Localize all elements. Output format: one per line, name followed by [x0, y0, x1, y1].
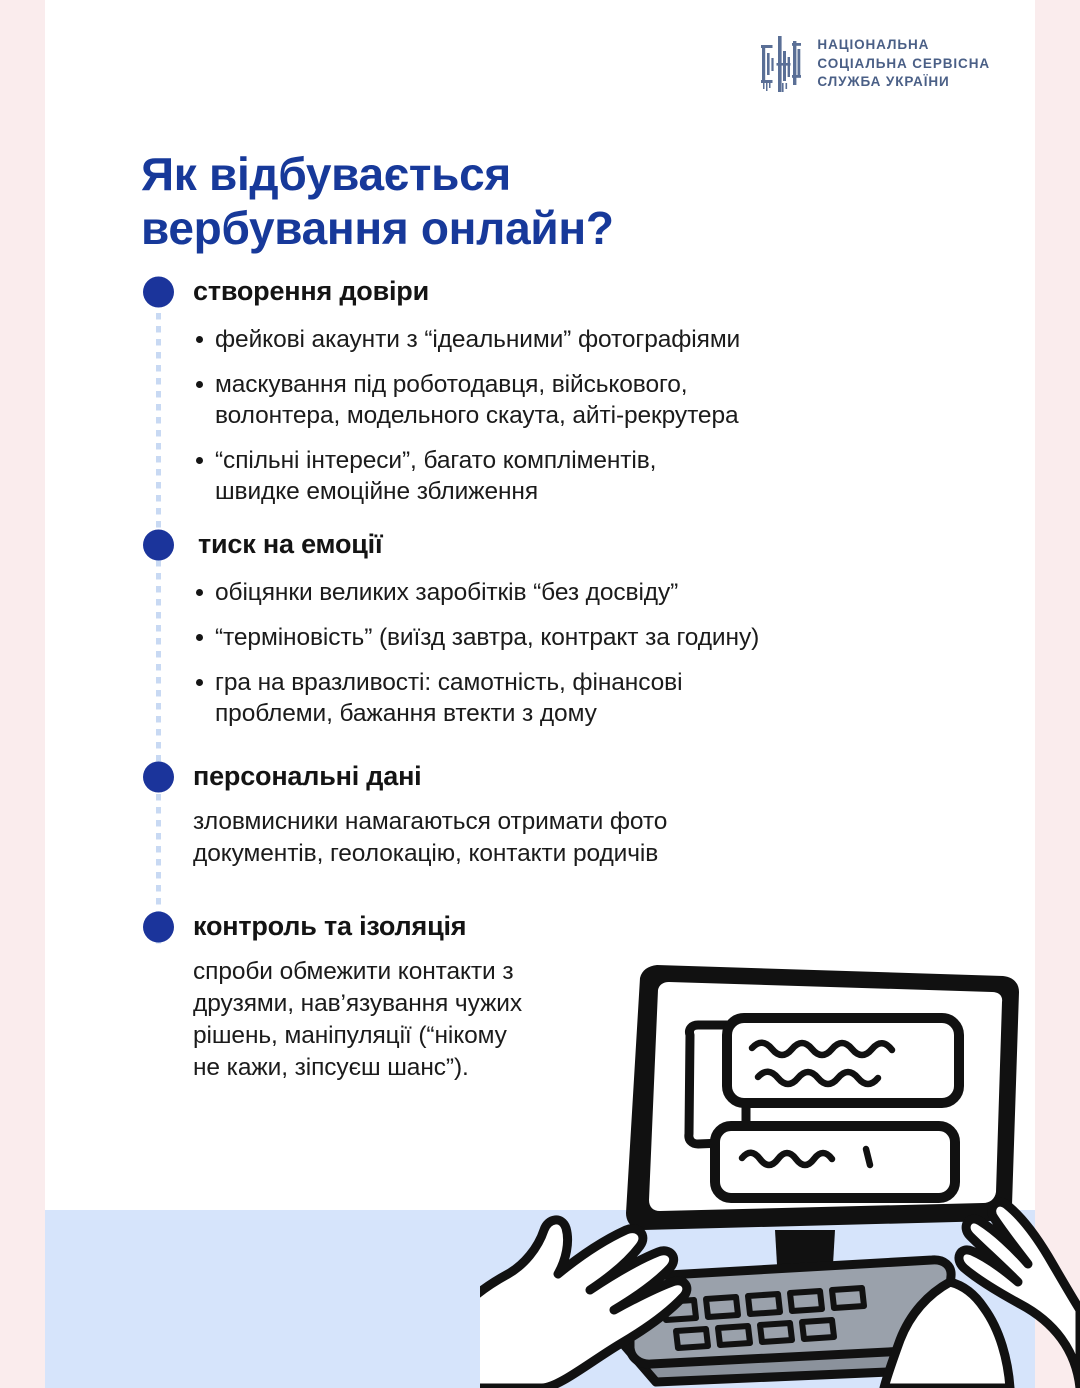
section-paragraph: спроби обмежити контакти з друзями, нав’… [193, 956, 623, 1083]
section-heading: контроль та ізоляція [193, 912, 466, 942]
bullet-line: маскування під роботодавця, військового, [215, 369, 1035, 400]
bullet-line: волонтера, модельного скаута, айті-рекру… [215, 400, 1035, 431]
bullet-line: фейкові акаунти з “ідеальними” фотографі… [215, 324, 1035, 355]
section-trust-building: створення довіри фейкові акаунти з “ідеа… [45, 272, 1035, 522]
left-pink-margin [0, 0, 45, 1388]
list-item: маскування під роботодавця, військового,… [45, 369, 1035, 431]
section-personal-data: персональні дані зловмисники намагаються… [45, 757, 1035, 870]
organization-logo: НАЦІОНАЛЬНА СОЦІАЛЬНА СЕРВІСНА СЛУЖБА УК… [759, 33, 990, 95]
paragraph-line: документів, геолокацію, контакти родичів [193, 838, 1035, 870]
section-bullet-dot-icon [143, 277, 174, 308]
list-item: фейкові акаунти з “ідеальними” фотографі… [45, 324, 1035, 355]
logo-line-1: НАЦІОНАЛЬНА [817, 37, 990, 53]
list-item: обіцянки великих заробітків “без досвіду… [45, 577, 1035, 608]
section-heading-row: створення довіри [45, 272, 1035, 312]
paragraph-line: друзями, нав’язування чужих [193, 988, 623, 1020]
infographic-poster: НАЦІОНАЛЬНА СОЦІАЛЬНА СЕРВІСНА СЛУЖБА УК… [0, 0, 1080, 1388]
right-pink-margin [1035, 0, 1080, 1388]
section-bullet-list: фейкові акаунти з “ідеальними” фотографі… [45, 324, 1035, 508]
section-bullet-dot-icon [143, 912, 174, 943]
list-item: “терміновість” (виїзд завтра, контракт з… [45, 622, 1035, 653]
section-heading: персональні дані [193, 762, 421, 792]
bullet-line: “спільні інтереси”, багато компліментів, [215, 445, 1035, 476]
section-heading-row: тиск на емоції [45, 525, 1035, 565]
section-heading: тиск на емоції [198, 530, 382, 560]
section-bullet-dot-icon [143, 762, 174, 793]
paragraph-line: зловмисники намагаються отримати фото [193, 806, 1035, 838]
section-heading: створення довіри [193, 277, 429, 307]
nssu-trident-logo-icon [759, 33, 805, 95]
page-content: НАЦІОНАЛЬНА СОЦІАЛЬНА СЕРВІСНА СЛУЖБА УК… [45, 0, 1035, 1388]
bullet-line: гра на вразливості: самотність, фінансов… [215, 667, 1035, 698]
logo-line-3: СЛУЖБА УКРАЇНИ [817, 74, 990, 90]
page-title: Як відбувається вербування онлайн? [141, 148, 841, 256]
section-paragraph: зловмисники намагаються отримати фото до… [193, 806, 1035, 870]
title-line-2: вербування онлайн? [141, 202, 841, 256]
logo-wordmark: НАЦІОНАЛЬНА СОЦІАЛЬНА СЕРВІСНА СЛУЖБА УК… [817, 37, 990, 90]
bullet-line: проблеми, бажання втекти з дому [215, 698, 1035, 729]
bullet-line: швидке емоційне зближення [215, 476, 1035, 507]
logo-line-2: СОЦІАЛЬНА СЕРВІСНА [817, 56, 990, 72]
section-bullet-list: обіцянки великих заробітків “без досвіду… [45, 577, 1035, 729]
bullet-line: обіцянки великих заробітків “без досвіду… [215, 577, 1035, 608]
paragraph-line: спроби обмежити контакти з [193, 956, 623, 988]
bullet-line: “терміновість” (виїзд завтра, контракт з… [215, 622, 1035, 653]
list-item: “спільні інтереси”, багато компліментів,… [45, 445, 1035, 507]
paragraph-line: рішень, маніпуляції (“нікому [193, 1020, 623, 1052]
section-heading-row: контроль та ізоляція [45, 907, 1035, 947]
title-line-1: Як відбувається [141, 148, 841, 202]
section-control-isolation: контроль та ізоляція спроби обмежити кон… [45, 907, 1035, 1083]
section-heading-row: персональні дані [45, 757, 1035, 797]
paragraph-line: не кажи, зіпсуєш шанс”). [193, 1052, 623, 1084]
list-item: гра на вразливості: самотність, фінансов… [45, 667, 1035, 729]
section-emotional-pressure: тиск на емоції обіцянки великих заробітк… [45, 525, 1035, 743]
section-bullet-dot-icon [143, 530, 174, 561]
